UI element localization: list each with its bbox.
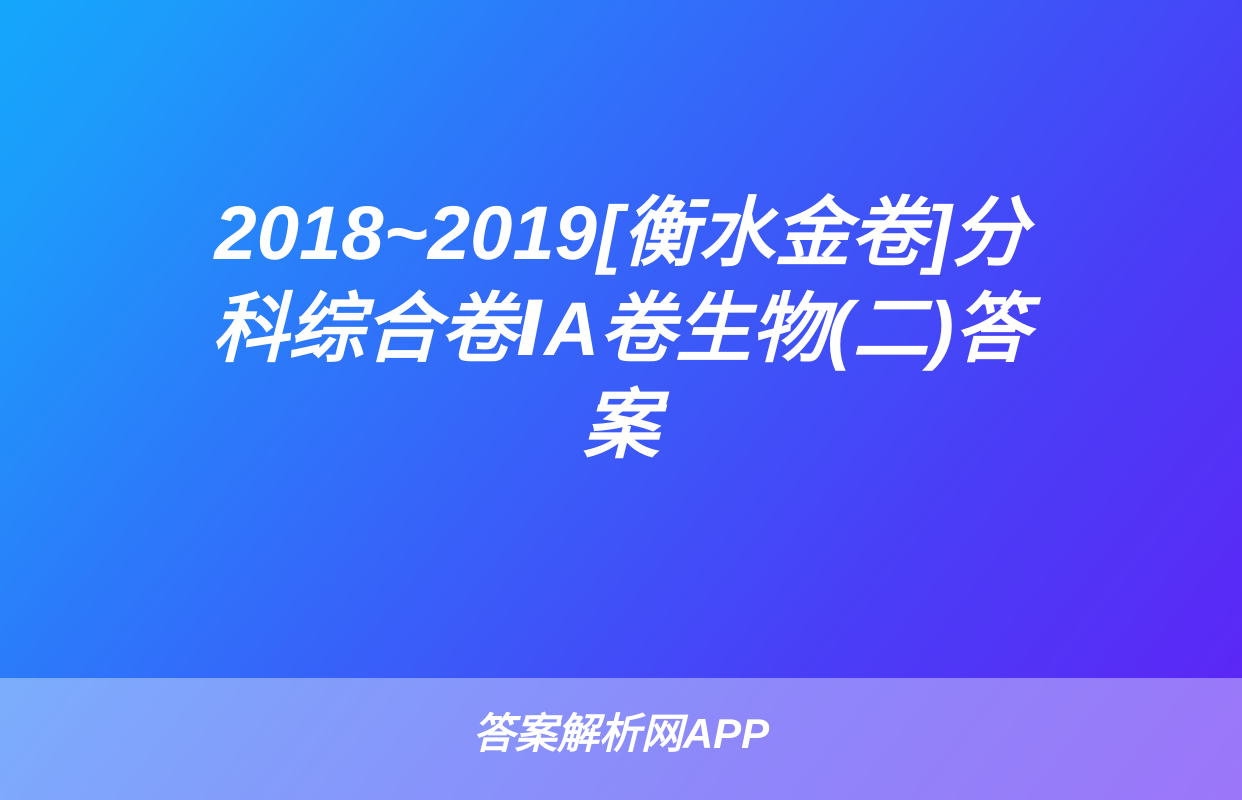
poster-canvas: 2018~2019[衡水金卷]分 科综合卷ⅠA卷生物(二)答 案 答案解析网AP…: [0, 0, 1242, 800]
title-line-1: 2018~2019[衡水金卷]分: [60, 186, 1182, 282]
title-line-3: 案: [60, 378, 1182, 474]
title-line-2: 科综合卷ⅠA卷生物(二)答: [60, 282, 1182, 378]
page-title: 2018~2019[衡水金卷]分 科综合卷ⅠA卷生物(二)答 案: [0, 186, 1242, 474]
app-brand-label: 答案解析网APP: [0, 708, 1242, 760]
